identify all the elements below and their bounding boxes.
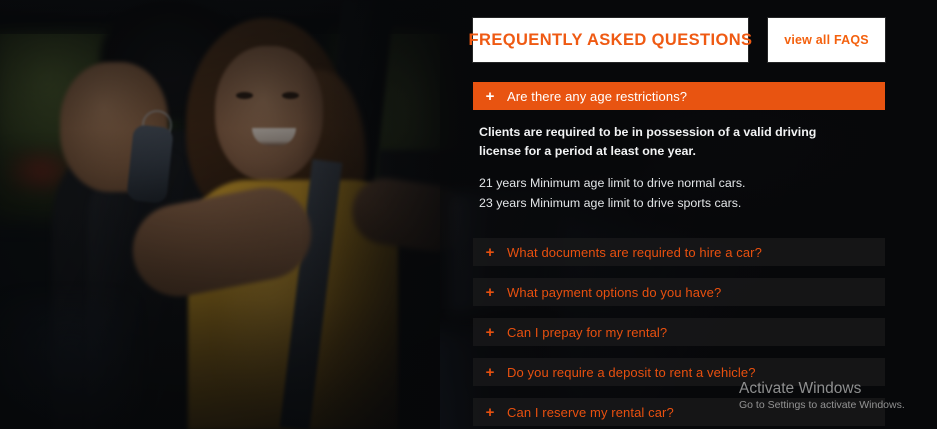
faq-section: FREQUENTLY ASKED QUESTIONS view all FAQS… xyxy=(0,0,937,429)
answer-line-2: 23 years Minimum age limit to drive spor… xyxy=(479,193,879,213)
faq-panel: FREQUENTLY ASKED QUESTIONS view all FAQS… xyxy=(440,0,937,429)
plus-icon: + xyxy=(473,245,507,260)
plus-icon: + xyxy=(473,365,507,380)
hero-photo-woman-with-car-keys xyxy=(0,0,470,429)
accordion-item-deposit[interactable]: + Do you require a deposit to rent a veh… xyxy=(473,358,885,386)
accordion-question-label: What documents are required to hire a ca… xyxy=(507,245,762,260)
accordion-panel-expanded: Clients are required to be in possession… xyxy=(473,110,885,223)
accordion-question-label: Can I reserve my rental car? xyxy=(507,405,674,420)
plus-icon: + xyxy=(473,405,507,420)
accordion-header-expanded[interactable]: + Are there any age restrictions? xyxy=(473,82,885,110)
answer-lead-text: Clients are required to be in possession… xyxy=(479,123,851,161)
accordion-question-label: Can I prepay for my rental? xyxy=(507,325,667,340)
page-title-text: FREQUENTLY ASKED QUESTIONS xyxy=(469,31,753,50)
accordion-item-prepay[interactable]: + Can I prepay for my rental? xyxy=(473,318,885,346)
accordion-item-payment-options[interactable]: + What payment options do you have? xyxy=(473,278,885,306)
plus-icon: + xyxy=(473,325,507,340)
page-title: FREQUENTLY ASKED QUESTIONS xyxy=(473,18,748,62)
faq-header: FREQUENTLY ASKED QUESTIONS view all FAQS xyxy=(473,18,885,62)
accordion-item-reserve[interactable]: + Can I reserve my rental car? xyxy=(473,398,885,426)
answer-line-1: 21 years Minimum age limit to drive norm… xyxy=(479,173,879,193)
view-all-faqs-label: view all FAQS xyxy=(784,33,869,47)
accordion-collapsed-list: + What documents are required to hire a … xyxy=(473,238,885,426)
plus-icon: + xyxy=(473,285,507,300)
accordion-question-expanded: Are there any age restrictions? xyxy=(507,89,687,104)
accordion-item-documents[interactable]: + What documents are required to hire a … xyxy=(473,238,885,266)
accordion-question-label: What payment options do you have? xyxy=(507,285,721,300)
accordion-question-label: Do you require a deposit to rent a vehic… xyxy=(507,365,756,380)
view-all-faqs-button[interactable]: view all FAQS xyxy=(768,18,885,62)
faq-accordion: + Are there any age restrictions? Client… xyxy=(473,82,885,426)
plus-icon: + xyxy=(473,89,507,104)
